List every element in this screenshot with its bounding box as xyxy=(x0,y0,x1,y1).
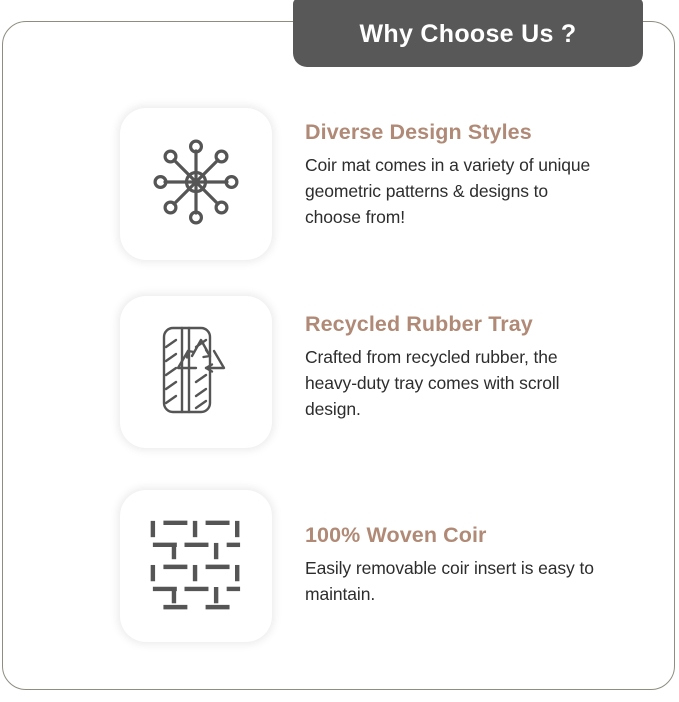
features-list: Diverse Design Styles Coir mat comes in … xyxy=(0,0,679,702)
banner-title: Why Choose Us ? xyxy=(359,18,576,47)
feature-title: Recycled Rubber Tray xyxy=(305,312,605,338)
feature-title: Diverse Design Styles xyxy=(305,120,605,146)
feature-text-block: Recycled Rubber Tray Crafted from recycl… xyxy=(305,296,605,422)
feature-description: Coir mat comes in a variety of unique ge… xyxy=(305,153,605,231)
feature-description: Easily removable coir insert is easy to … xyxy=(305,556,605,608)
feature-title: 100% Woven Coir xyxy=(305,523,605,549)
feature-icon-card xyxy=(120,490,272,642)
feature-text-block: 100% Woven Coir Easily removable coir in… xyxy=(305,490,605,608)
feature-item: Diverse Design Styles Coir mat comes in … xyxy=(120,108,620,260)
woven-basket-weave-icon xyxy=(150,518,242,615)
feature-item: Recycled Rubber Tray Crafted from recycl… xyxy=(120,296,620,448)
feature-icon-card xyxy=(120,108,272,260)
feature-icon-card xyxy=(120,296,272,448)
header-banner: Why Choose Us ? xyxy=(293,0,643,67)
network-hub-spoke-icon xyxy=(148,134,244,235)
feature-text-block: Diverse Design Styles Coir mat comes in … xyxy=(305,108,605,230)
feature-item: 100% Woven Coir Easily removable coir in… xyxy=(120,490,620,642)
feature-description: Crafted from recycled rubber, the heavy-… xyxy=(305,345,605,423)
recycled-rubber-tire-icon xyxy=(146,320,246,425)
